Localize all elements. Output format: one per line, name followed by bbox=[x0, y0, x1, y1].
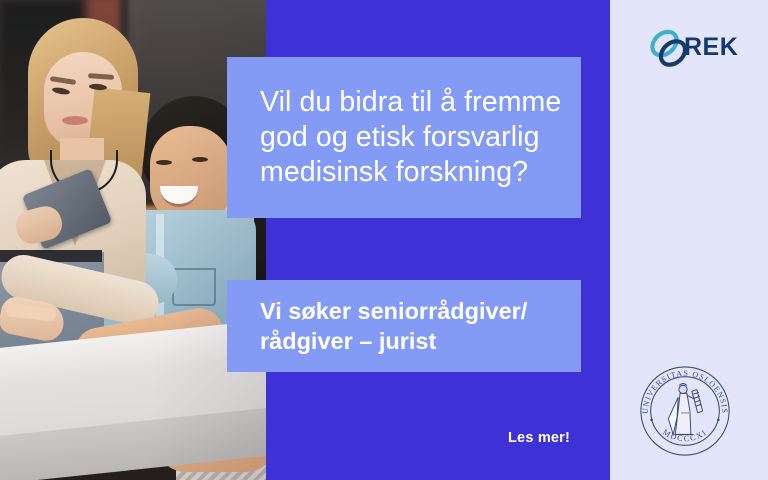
headline-question-box: Vil du bidra til å fremme god og etisk f… bbox=[227, 57, 581, 218]
read-more-link[interactable]: Les mer! bbox=[508, 430, 570, 446]
university-of-oslo-seal-icon: UNIVERSITAS OSLOENSIS MDCCCXI bbox=[636, 362, 734, 460]
rek-logo[interactable]: REK bbox=[648, 26, 736, 70]
headline-line-3: medisinsk forskning? bbox=[260, 155, 561, 190]
headline-line-1: Vil du bidra til å fremme bbox=[260, 85, 561, 120]
job-role-box: Vi søker seniorrådgiver/ rådgiver – juri… bbox=[227, 280, 581, 372]
uio-seal: UNIVERSITAS OSLOENSIS MDCCCXI bbox=[636, 362, 734, 460]
headline-line-2: god og etisk forsvarlig bbox=[260, 120, 561, 155]
job-role-text: Vi søker seniorrådgiver/ rådgiver – juri… bbox=[260, 296, 527, 356]
job-role-line-2: rådgiver – jurist bbox=[260, 326, 527, 356]
job-role-line-1: Vi søker seniorrådgiver/ bbox=[260, 296, 527, 326]
job-advert-banner: Vil du bidra til å fremme god og etisk f… bbox=[0, 0, 768, 480]
rek-wordmark: REK bbox=[684, 34, 738, 60]
headline-question-text: Vil du bidra til å fremme god og etisk f… bbox=[260, 85, 561, 190]
